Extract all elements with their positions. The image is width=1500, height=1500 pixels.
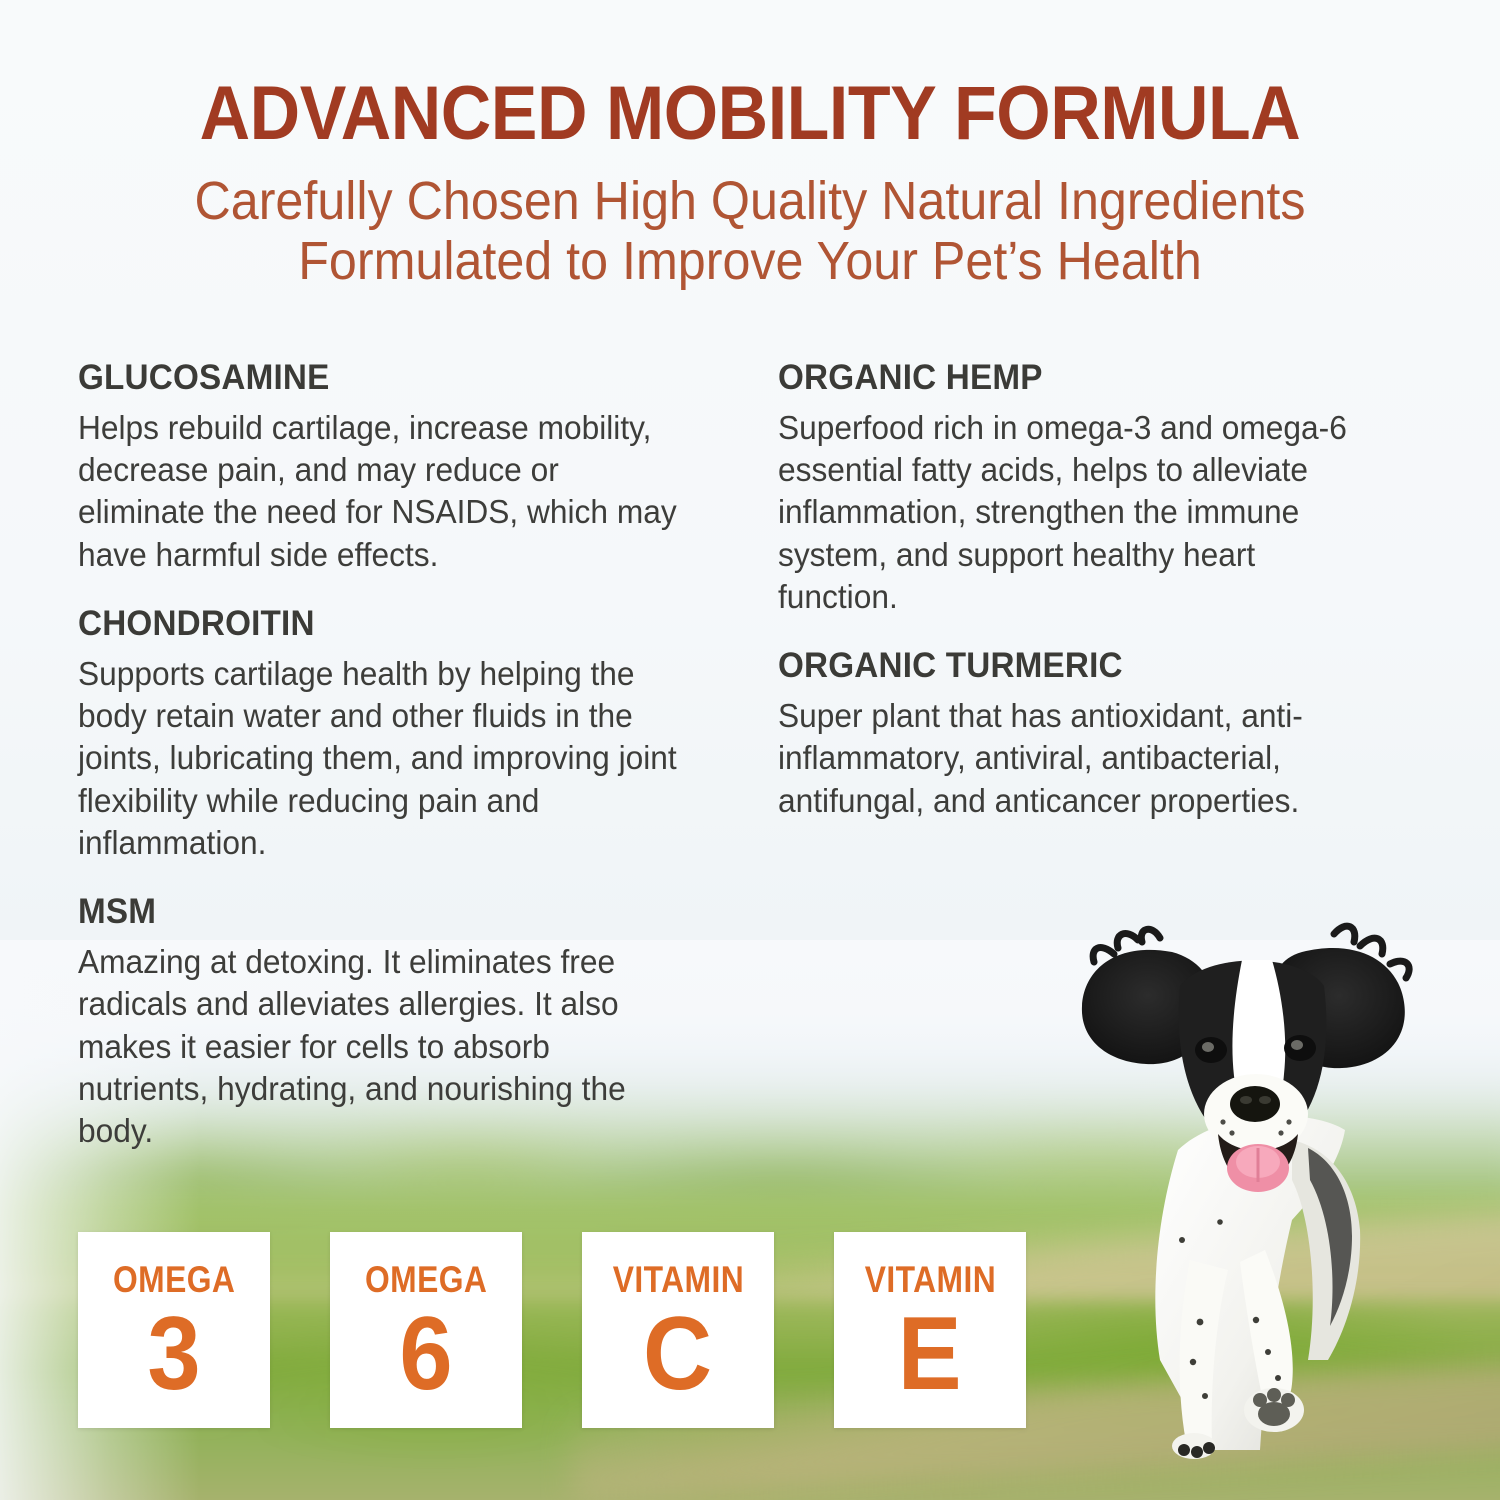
badge-value: C <box>643 1302 712 1406</box>
badge-label: OMEGA <box>365 1261 487 1298</box>
ingredient-msm: MSM Amazing at detoxing. It eliminates f… <box>78 892 718 1152</box>
ingredient-heading: MSM <box>78 892 686 932</box>
ingredient-glucosamine: GLUCOSAMINE Helps rebuild cartilage, inc… <box>78 358 718 576</box>
ingredient-heading: ORGANIC HEMP <box>778 358 1386 398</box>
ingredient-description: Helps rebuild cartilage, increase mobili… <box>78 407 678 576</box>
badge-vitamin-c: VITAMIN C <box>582 1232 774 1428</box>
badge-label: OMEGA <box>113 1261 235 1298</box>
header: ADVANCED MOBILITY FORMULA Carefully Chos… <box>0 78 1500 292</box>
ingredient-description: Super plant that has antioxidant, anti-i… <box>778 695 1378 822</box>
ingredient-chondroitin: CHONDROITIN Supports cartilage health by… <box>78 604 718 864</box>
ingredient-column-left: GLUCOSAMINE Helps rebuild cartilage, inc… <box>78 358 718 1152</box>
badge-value: 6 <box>399 1302 452 1406</box>
page-title: ADVANCED MOBILITY FORMULA <box>60 78 1440 151</box>
subtitle-line-1: Carefully Chosen High Quality Natural In… <box>53 171 1448 231</box>
page-subtitle: Carefully Chosen High Quality Natural In… <box>53 171 1448 292</box>
ingredient-description: Amazing at detoxing. It eliminates free … <box>78 941 678 1152</box>
badge-omega-6: OMEGA 6 <box>330 1232 522 1428</box>
ingredient-description: Supports cartilage health by helping the… <box>78 653 678 864</box>
ingredient-organic-hemp: ORGANIC HEMP Superfood rich in omega-3 a… <box>778 358 1418 618</box>
ingredient-columns: GLUCOSAMINE Helps rebuild cartilage, inc… <box>0 358 1500 1238</box>
ingredient-description: Superfood rich in omega-3 and omega-6 es… <box>778 407 1378 618</box>
ingredient-heading: GLUCOSAMINE <box>78 358 686 398</box>
badge-label: VITAMIN <box>612 1261 743 1298</box>
infographic-page: ADVANCED MOBILITY FORMULA Carefully Chos… <box>0 0 1500 1500</box>
ingredient-heading: CHONDROITIN <box>78 604 686 644</box>
badge-omega-3: OMEGA 3 <box>78 1232 270 1428</box>
ingredient-organic-turmeric: ORGANIC TURMERIC Super plant that has an… <box>778 646 1418 822</box>
ingredient-column-right: ORGANIC HEMP Superfood rich in omega-3 a… <box>778 358 1418 822</box>
subtitle-line-2: Formulated to Improve Your Pet’s Health <box>53 231 1448 291</box>
badge-value: E <box>898 1302 962 1406</box>
nutrient-badges: OMEGA 3 OMEGA 6 VITAMIN C VITAMIN E <box>78 1232 1026 1428</box>
badge-value: 3 <box>147 1302 200 1406</box>
badge-label: VITAMIN <box>864 1261 995 1298</box>
badge-vitamin-e: VITAMIN E <box>834 1232 1026 1428</box>
ingredient-heading: ORGANIC TURMERIC <box>778 646 1386 686</box>
